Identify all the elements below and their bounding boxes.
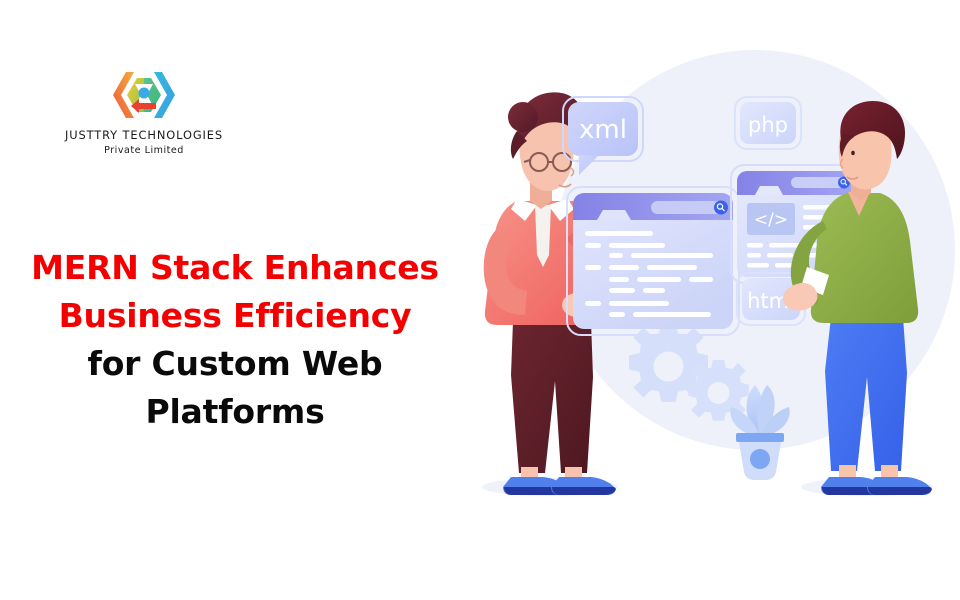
brand-name: JUSTTRY TECHNOLOGIES <box>58 128 230 142</box>
tag-xml-label: xml <box>579 115 627 145</box>
search-icon[interactable] <box>714 201 728 215</box>
tag-php-label: php <box>748 113 788 137</box>
browser-window-left[interactable] <box>567 187 739 335</box>
brand-subtitle: Private Limited <box>58 145 230 156</box>
headline-line-1: MERN Stack Enhances <box>20 244 450 292</box>
code-brackets-icon: </> <box>747 203 795 235</box>
headline-line-2: Business Efficiency <box>20 292 450 340</box>
justtry-hexagon-logo-icon <box>109 68 179 122</box>
headline-line-3: for Custom Web <box>20 340 450 388</box>
tag-php: php <box>735 97 801 149</box>
code-glyph-label: </> <box>754 210 788 230</box>
left-content-column: JUSTTRY TECHNOLOGIES Private Limited MER… <box>0 0 470 600</box>
hero-illustration: </> <box>455 35 960 545</box>
illustration-canvas: </> <box>455 35 960 545</box>
headline: MERN Stack Enhances Business Efficiency … <box>20 244 450 436</box>
brand-lockup: JUSTTRY TECHNOLOGIES Private Limited <box>58 68 230 156</box>
banner-root: JUSTTRY TECHNOLOGIES Private Limited MER… <box>0 0 960 600</box>
headline-line-4: Platforms <box>20 388 450 436</box>
